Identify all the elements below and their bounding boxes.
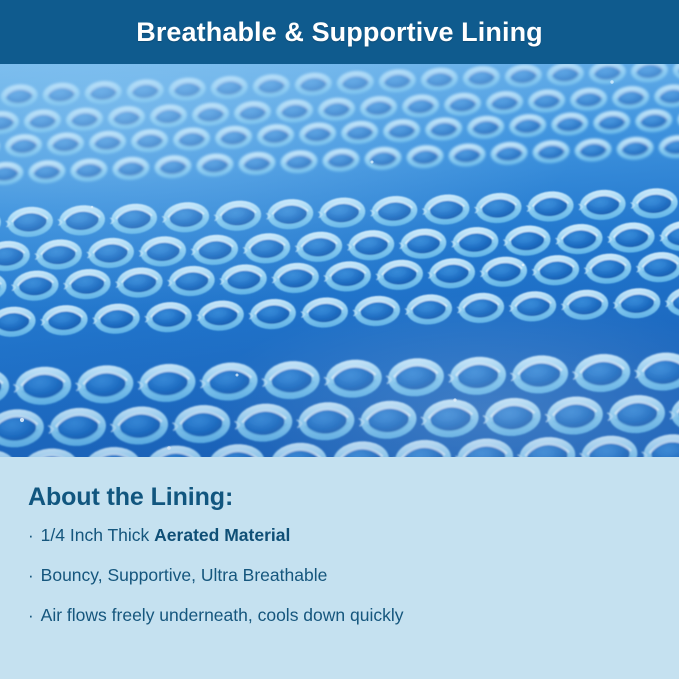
product-feature-card: Breathable & Supportive Lining: [0, 0, 679, 679]
bullet-dot-icon: ·: [28, 567, 34, 584]
mesh-fabric-photo: [0, 64, 679, 457]
section-heading: About the Lining:: [28, 483, 651, 512]
bullet-dot-icon: ·: [28, 607, 34, 624]
mesh-weave-graphic: [0, 64, 679, 457]
page-title: Breathable & Supportive Lining: [136, 17, 543, 48]
list-item-text-plain: Bouncy, Supportive, Ultra Breathable: [41, 565, 328, 585]
list-item-text: 1/4 Inch Thick Aerated Material: [41, 525, 291, 546]
list-item-text-plain: 1/4 Inch Thick: [41, 525, 155, 545]
list-item: · Bouncy, Supportive, Ultra Breathable: [28, 565, 651, 586]
list-item-text-plain: Air flows freely underneath, cools down …: [41, 605, 404, 625]
list-item-text: Air flows freely underneath, cools down …: [41, 605, 404, 626]
list-item: · 1/4 Inch Thick Aerated Material: [28, 525, 651, 546]
list-item: · Air flows freely underneath, cools dow…: [28, 605, 651, 626]
feature-bullet-list: · 1/4 Inch Thick Aerated Material · Boun…: [28, 525, 651, 626]
about-lining-panel: About the Lining: · 1/4 Inch Thick Aerat…: [0, 457, 679, 679]
bullet-dot-icon: ·: [28, 527, 34, 544]
list-item-text-bold: Aerated Material: [154, 525, 290, 545]
list-item-text: Bouncy, Supportive, Ultra Breathable: [41, 565, 328, 586]
header-banner: Breathable & Supportive Lining: [0, 0, 679, 64]
